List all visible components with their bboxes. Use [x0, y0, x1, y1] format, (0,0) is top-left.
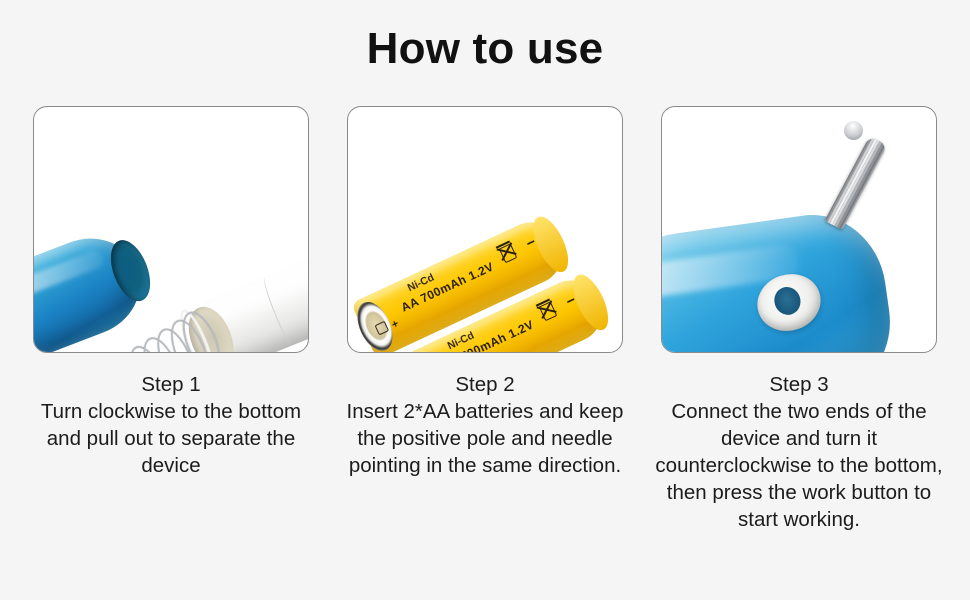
step-2-caption: Step 2 Insert 2*AA batteries and keep th… — [340, 371, 630, 479]
crossed-out-bin-icon — [535, 297, 558, 321]
device-disassembly-photo — [34, 107, 308, 352]
step-3-caption: Step 3 Connect the two ends of the devic… — [654, 371, 944, 533]
needle-tip-icon — [841, 118, 867, 144]
step-3-photo-card — [661, 106, 937, 353]
pen-collar-hole-icon — [771, 284, 804, 319]
step-3-body: Connect the two ends of the device and t… — [654, 398, 944, 533]
step-1-body: Turn clockwise to the bottom and pull ou… — [26, 398, 316, 479]
step-column-2: Ni-Cd AA 700mAh 1.2V + − Ni-Cd — [347, 106, 623, 533]
engraver-tip-photo — [662, 107, 936, 352]
step-1-photo-card — [33, 106, 309, 353]
engraving-needle-icon — [825, 136, 888, 230]
blue-pen-body-icon — [661, 206, 899, 353]
blue-handle-icon — [33, 223, 154, 353]
step-2-label: Step 2 — [340, 371, 630, 398]
step-1-caption: Step 1 Turn clockwise to the bottom and … — [26, 371, 316, 479]
crossed-out-bin-icon — [495, 239, 518, 263]
page-title: How to use — [0, 24, 970, 75]
step-2-photo-card: Ni-Cd AA 700mAh 1.2V + − Ni-Cd — [347, 106, 623, 353]
step-column-3: Step 3 Connect the two ends of the devic… — [661, 106, 937, 533]
tube-seam-icon — [261, 276, 296, 346]
aa-batteries-photo: Ni-Cd AA 700mAh 1.2V + − Ni-Cd — [348, 107, 622, 352]
handle-open-end-icon — [103, 235, 158, 307]
step-2-body: Insert 2*AA batteries and keep the posit… — [340, 398, 630, 479]
steps-row: Step 1 Turn clockwise to the bottom and … — [0, 106, 970, 533]
step-3-label: Step 3 — [654, 371, 944, 398]
step-column-1: Step 1 Turn clockwise to the bottom and … — [33, 106, 309, 533]
step-1-label: Step 1 — [26, 371, 316, 398]
how-to-use-page: How to use — [0, 0, 970, 600]
